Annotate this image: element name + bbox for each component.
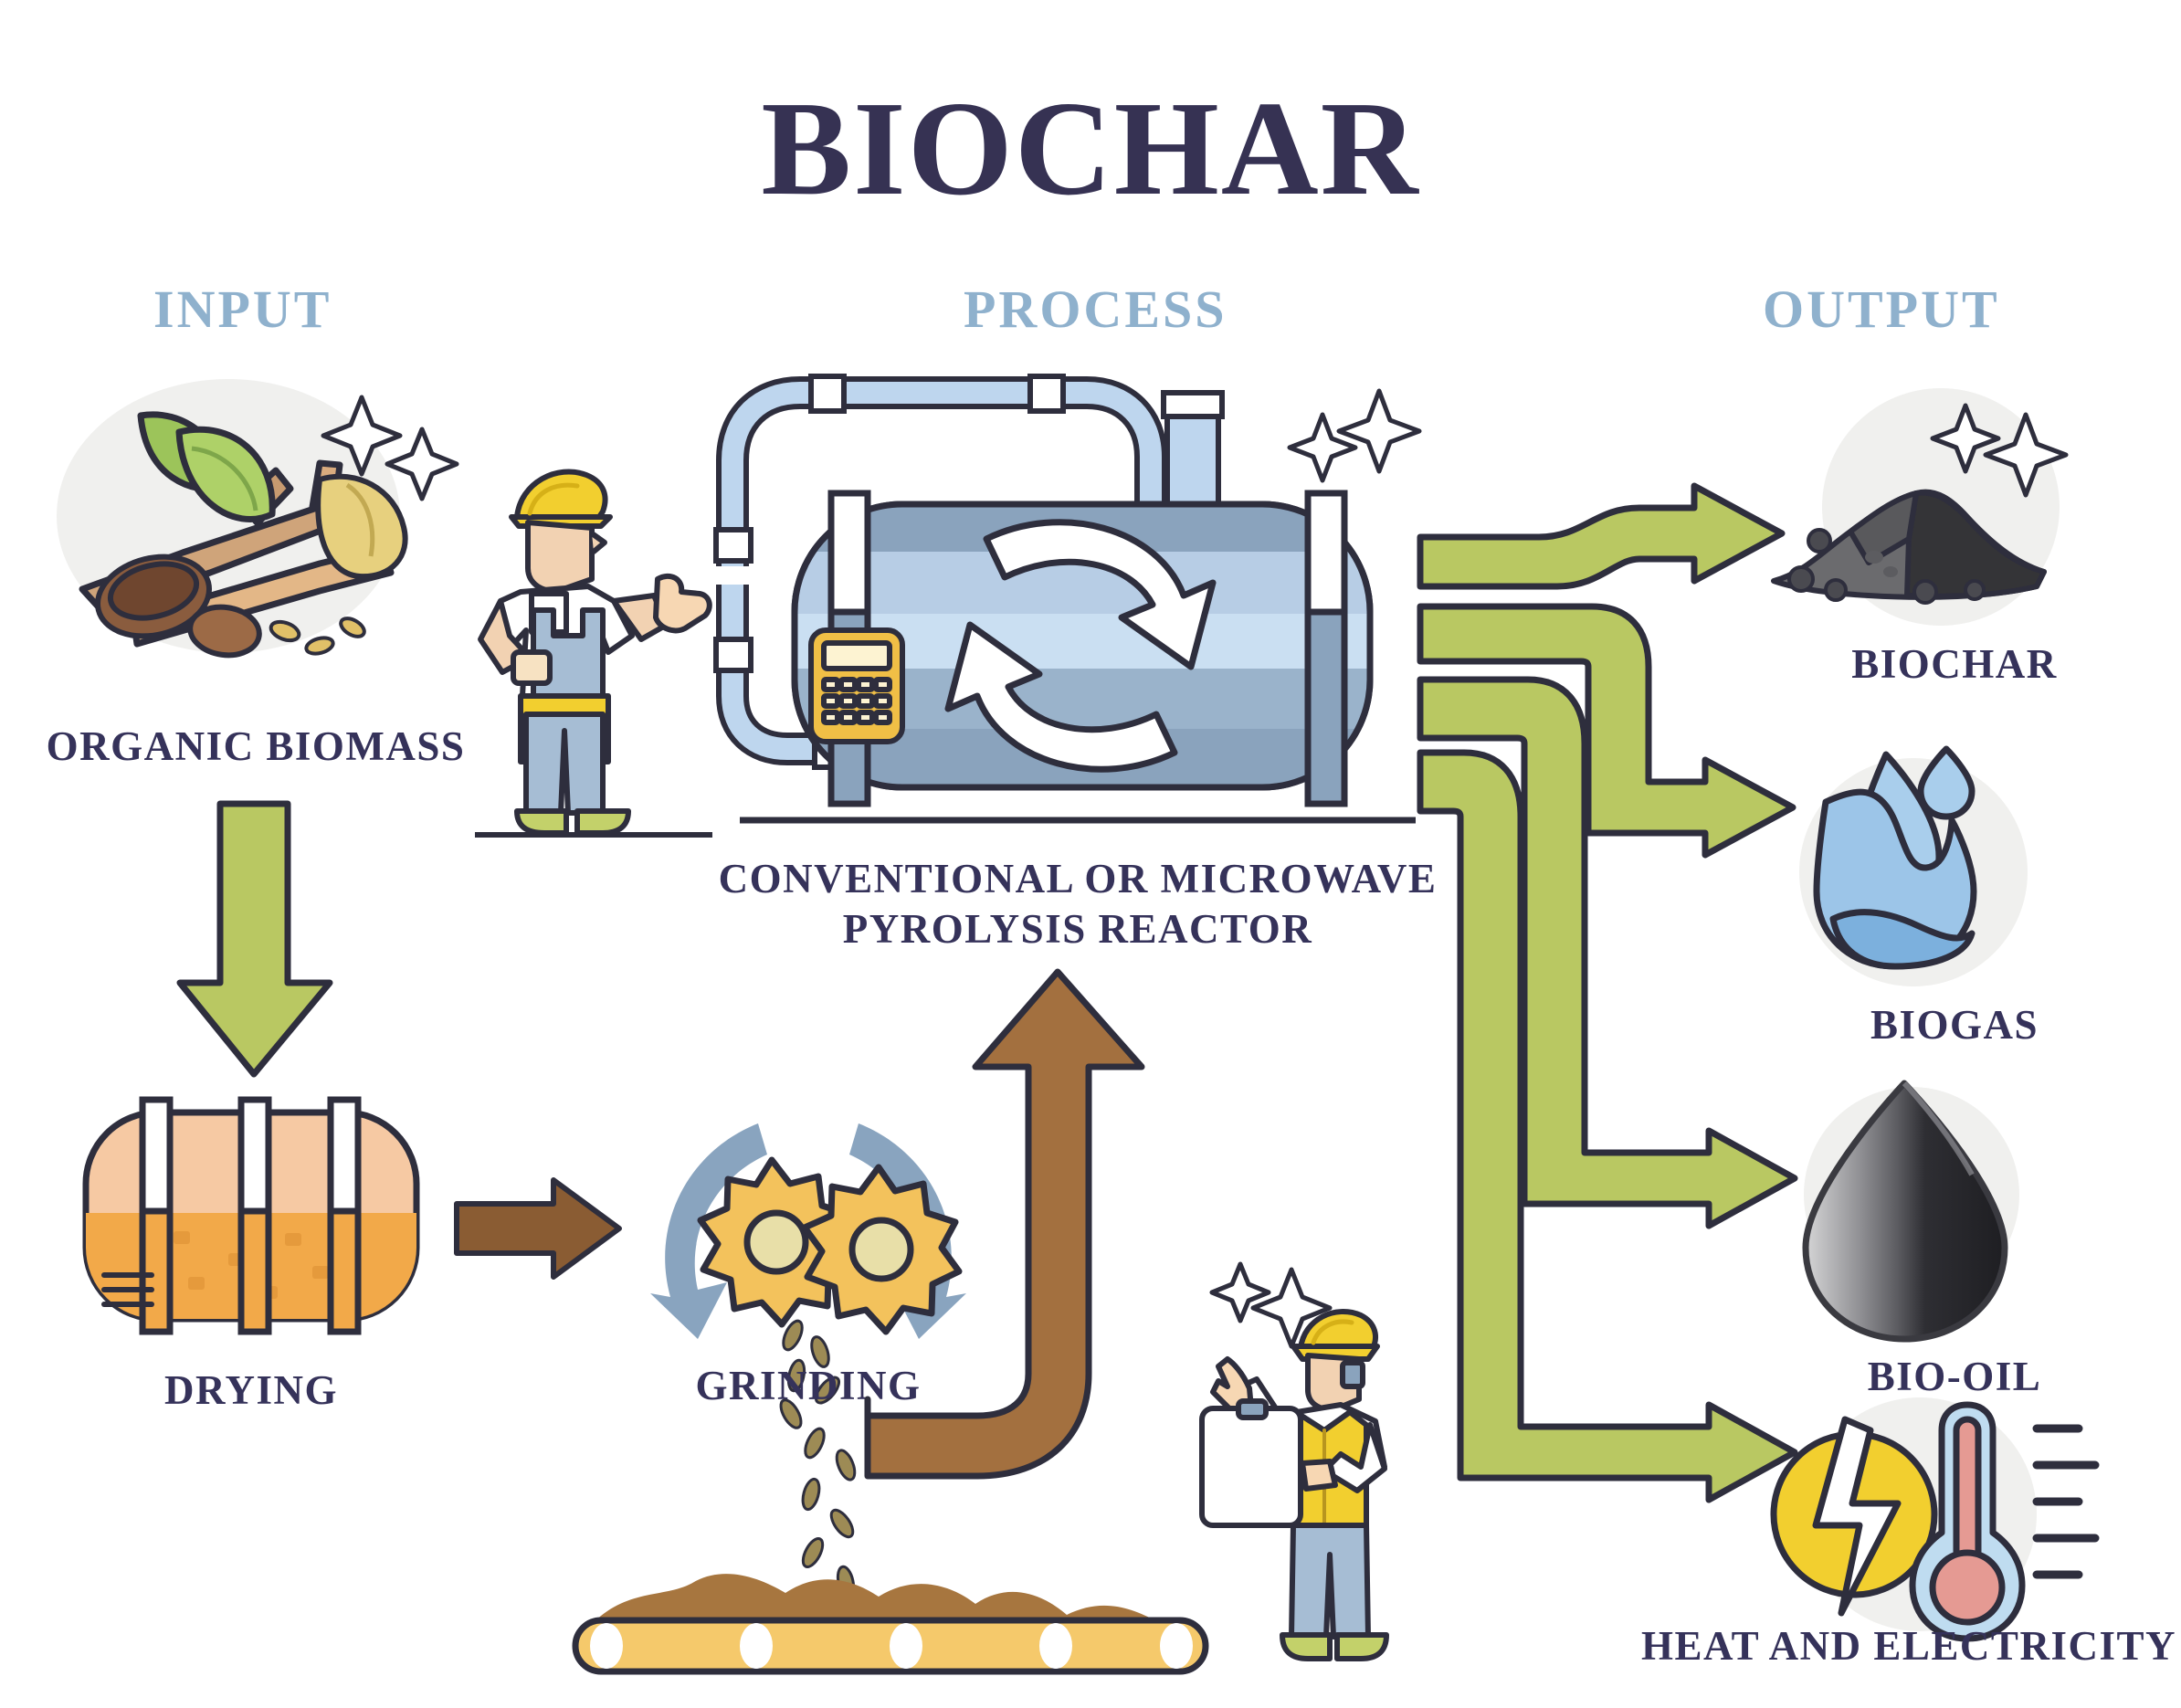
conveyor-to-reactor-arrow: [868, 968, 1160, 1480]
organic-biomass-label: ORGANIC BIOMASS: [0, 722, 511, 772]
output-label-biooil: BIO-OIL: [1763, 1352, 2146, 1402]
biomass-to-drying-arrow: [178, 804, 333, 1078]
lightning-thermometer-icon: [1763, 1397, 2146, 1653]
conveyor-belt-icon: [566, 1562, 1215, 1681]
oil-droplet-icon: [1795, 1078, 2069, 1352]
worker-thumbs-up-icon: [466, 457, 722, 849]
drying-to-grinding-arrow: [457, 1178, 621, 1279]
infographic-canvas: BIOCHAR INPUT PROCESS OUTPUT: [0, 0, 2181, 1708]
pyrolysis-reactor-label: CONVENTIONAL OR MICROWAVE PYROLYSIS REAC…: [694, 854, 1461, 954]
section-heading-process: PROCESS: [964, 279, 1227, 340]
reactor-label-line1: CONVENTIONAL OR MICROWAVE: [719, 856, 1438, 901]
drying-tank-icon: [73, 1096, 429, 1343]
charcoal-pile-icon: [1763, 384, 2146, 630]
reactor-to-biochar-arrow: [1420, 502, 1786, 603]
section-heading-input: INPUT: [153, 279, 332, 340]
worker-clipboard-icon: [1196, 1251, 1443, 1681]
page-title: BIOCHAR: [0, 71, 2181, 227]
output-label-biochar: BIOCHAR: [1763, 639, 2146, 690]
pyrolysis-reactor-icon: [712, 365, 1443, 859]
drying-label: DRYING: [73, 1365, 429, 1416]
reactor-to-heat-arrow: [1420, 749, 1804, 1516]
output-label-heat-electricity: HEAT AND ELECTRICITY: [1635, 1621, 2181, 1671]
reactor-label-line2: PYROLYSIS REACTOR: [843, 906, 1312, 952]
blue-flame-icon: [1786, 731, 2087, 1014]
organic-biomass-icon: [46, 361, 475, 671]
section-heading-output: OUTPUT: [1763, 279, 2000, 340]
output-label-biogas: BIOGAS: [1763, 1000, 2146, 1050]
